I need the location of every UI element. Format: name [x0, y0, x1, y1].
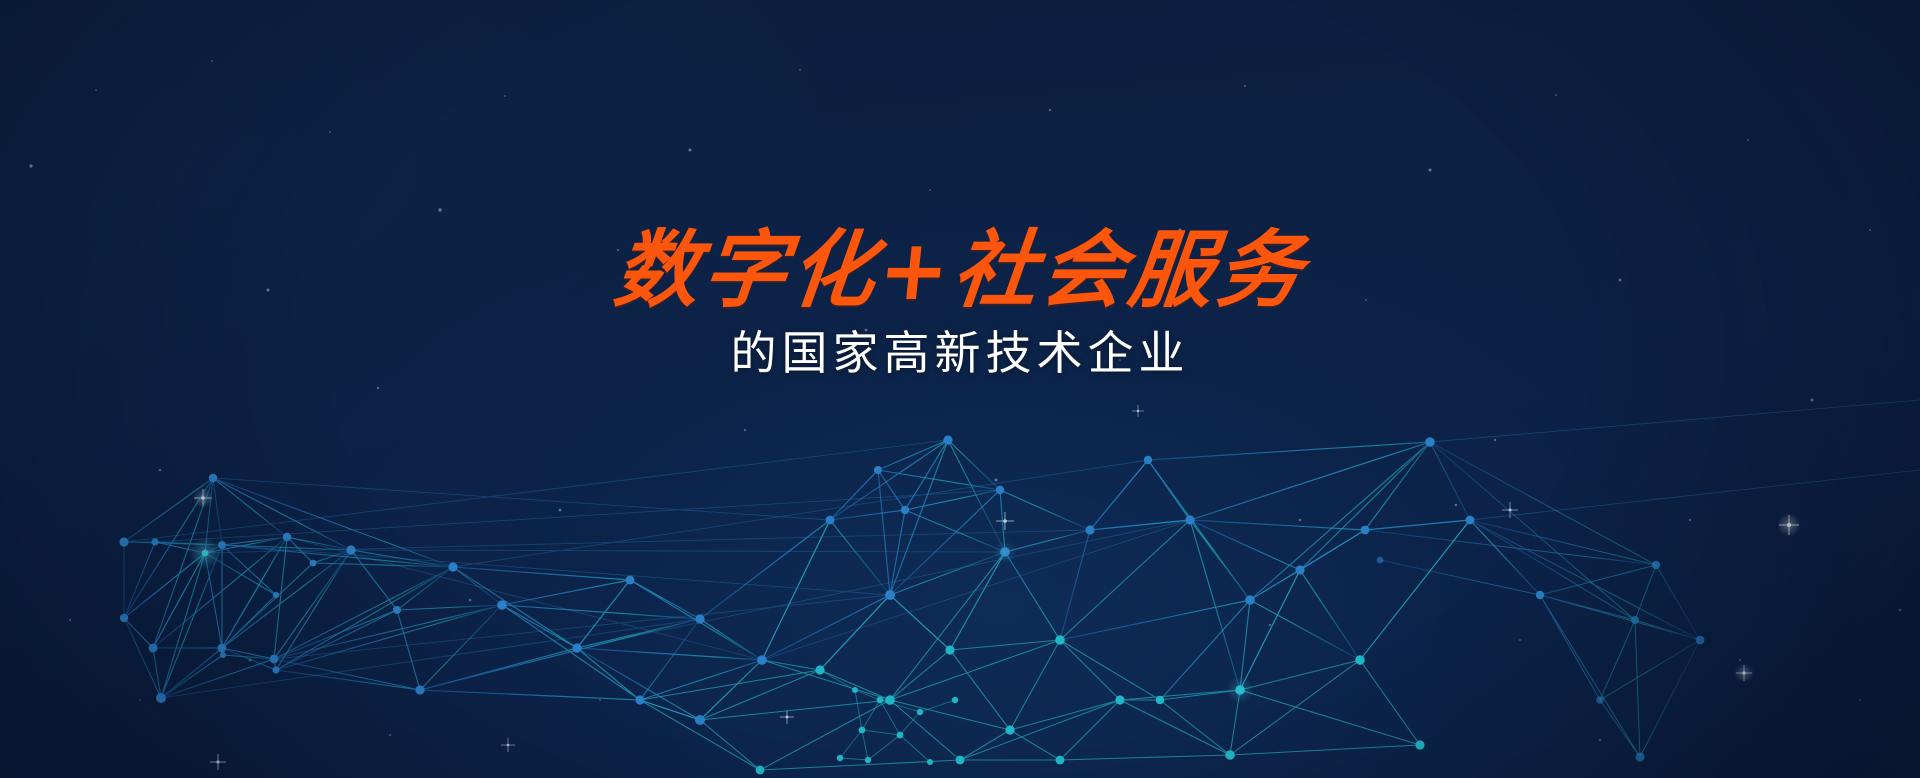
page-subtitle: 的国家高新技术企业 — [0, 328, 1920, 379]
hero-banner: 数字化+社会服务 的国家高新技术企业 — [0, 0, 1920, 778]
hero-text-block: 数字化+社会服务 的国家高新技术企业 — [0, 228, 1920, 378]
page-title: 数字化+社会服务 — [0, 228, 1920, 314]
network-mesh-graphic — [0, 0, 1920, 778]
